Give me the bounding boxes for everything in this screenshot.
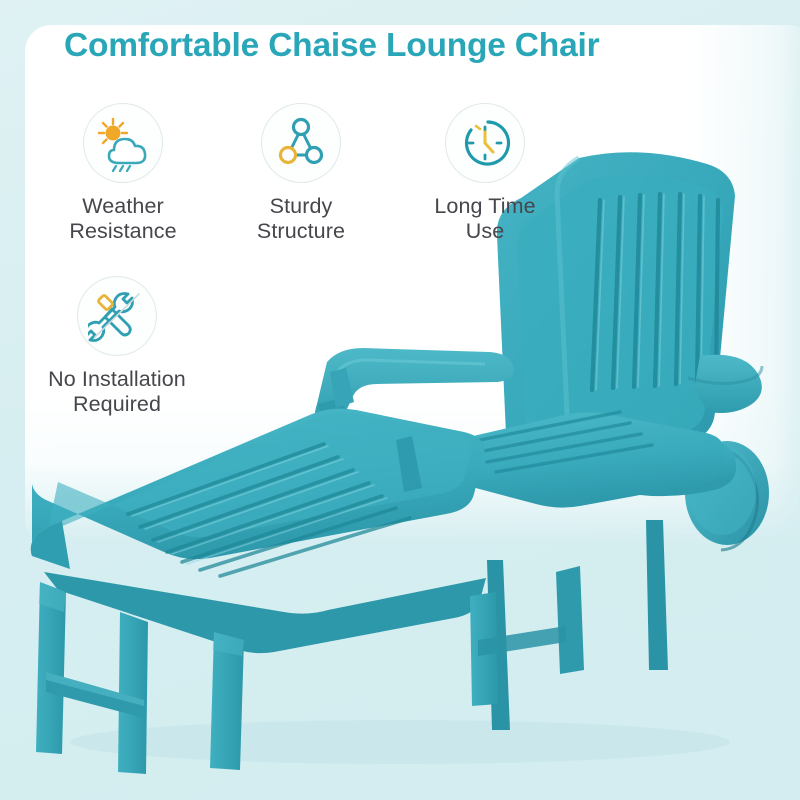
feature-icon-ring bbox=[77, 276, 157, 356]
feature-icon-ring bbox=[445, 103, 525, 183]
feature-label: Long Time Use bbox=[390, 194, 580, 244]
feature-sturdy-structure: Sturdy Structure bbox=[206, 103, 396, 244]
feature-icon-ring bbox=[261, 103, 341, 183]
feature-label: Weather Resistance bbox=[28, 194, 218, 244]
feature-no-installation: No Installation Required bbox=[22, 276, 212, 417]
feature-label: Sturdy Structure bbox=[206, 194, 396, 244]
feature-icon-ring bbox=[83, 103, 163, 183]
clock-icon bbox=[458, 116, 512, 170]
product-feature-banner: Comfortable Chaise Lounge Chair Weather … bbox=[0, 0, 800, 800]
triangle-nodes-icon bbox=[274, 117, 328, 169]
no-tools-icon bbox=[88, 287, 146, 345]
chair-front-legs bbox=[36, 582, 244, 774]
feature-long-time-use: Long Time Use bbox=[390, 103, 580, 244]
sun-rain-cloud-icon bbox=[94, 114, 152, 172]
chair-mid-legs bbox=[470, 566, 584, 706]
feature-label: No Installation Required bbox=[22, 367, 212, 417]
feature-weather-resistance: Weather Resistance bbox=[28, 103, 218, 244]
page-title: Comfortable Chaise Lounge Chair bbox=[64, 27, 599, 65]
